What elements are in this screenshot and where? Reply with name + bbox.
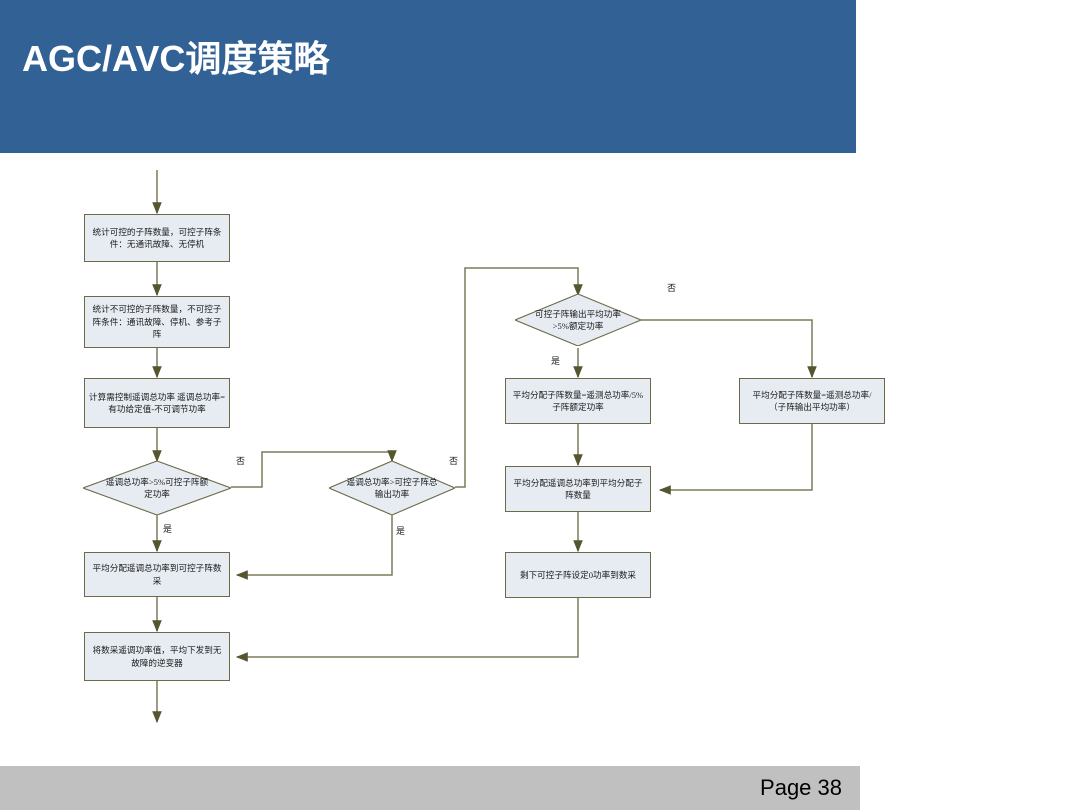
process-node-send-to-inverters: 将数采遥调功率值，平均下发到无故障的逆变器 [84, 632, 230, 681]
diamond-shape [515, 294, 641, 346]
edge-label-d2-yes: 是 [396, 524, 405, 537]
page-number-label: Page 38 [760, 775, 842, 801]
slide-canvas: AGC/AVC调度策略 [0, 0, 1080, 810]
footer-bar: Page 38 [0, 766, 860, 810]
edge-label-d1-no: 否 [236, 454, 245, 467]
node-label: 剩下可控子阵设定0功率到数采 [520, 569, 636, 581]
edge-label-text: 否 [449, 456, 458, 466]
decision-node-avg-output-gt-5pct: 可控子阵输出平均功率>5%额定功率 [515, 294, 641, 346]
diamond-shape [83, 461, 231, 515]
node-label: 统计可控的子阵数量，可控子阵条件：无通讯故障、无停机 [89, 226, 225, 251]
process-node-calc-total-power: 计算需控制遥调总功率 遥调总功率=有功给定值-不可调节功率 [84, 378, 230, 428]
process-node-count-controllable: 统计可控的子阵数量，可控子阵条件：无通讯故障、无停机 [84, 214, 230, 262]
edge-label-text: 否 [236, 456, 245, 466]
decision-node-total-gt-5pct-rated: 遥调总功率>5%可控子阵额定功率 [83, 461, 231, 515]
process-node-set-zero-power: 剩下可控子阵设定0功率到数采 [505, 552, 651, 598]
flowchart-diagram: 统计可控的子阵数量，可控子阵条件：无通讯故障、无停机 统计不可控的子阵数量，不可… [0, 0, 1080, 810]
process-node-count-uncontrollable: 统计不可控的子阵数量，不可控子阵条件：通讯故障、停机、参考子阵 [84, 296, 230, 348]
node-label: 统计不可控的子阵数量，不可控子阵条件：通讯故障、停机、参考子阵 [89, 303, 225, 340]
edge-label-d3-no: 否 [667, 281, 676, 294]
node-label: 将数采遥调功率值，平均下发到无故障的逆变器 [89, 644, 225, 669]
edge-label-text: 是 [551, 356, 560, 366]
edge-label-text: 否 [667, 283, 676, 293]
edge-label-text: 是 [163, 524, 172, 534]
edge-label-d1-yes: 是 [163, 522, 172, 535]
process-node-distribute-to-avg-count: 平均分配遥调总功率到平均分配子阵数量 [505, 466, 651, 512]
process-node-avg-count-avg-output: 平均分配子阵数量=遥测总功率/（子阵输出平均功率） [739, 378, 885, 424]
node-label: 计算需控制遥调总功率 遥调总功率=有功给定值-不可调节功率 [89, 391, 225, 416]
edge-label-d3-yes: 是 [551, 354, 560, 367]
node-label: 平均分配子阵数量=遥测总功率/（子阵输出平均功率） [744, 389, 880, 414]
edge-label-d2-no: 否 [449, 454, 458, 467]
edge-label-text: 是 [396, 526, 405, 536]
diamond-shape [329, 461, 455, 515]
decision-node-total-gt-output: 遥调总功率>可控子阵总输出功率 [329, 461, 455, 515]
process-node-avg-count-5pct-rated: 平均分配子阵数量=遥测总功率/5%子阵额定功率 [505, 378, 651, 424]
process-node-distribute-to-controllable: 平均分配遥调总功率到可控子阵数采 [84, 552, 230, 597]
node-label: 平均分配遥调总功率到可控子阵数采 [89, 562, 225, 587]
node-label: 平均分配遥调总功率到平均分配子阵数量 [510, 477, 646, 502]
node-label: 平均分配子阵数量=遥测总功率/5%子阵额定功率 [510, 389, 646, 414]
